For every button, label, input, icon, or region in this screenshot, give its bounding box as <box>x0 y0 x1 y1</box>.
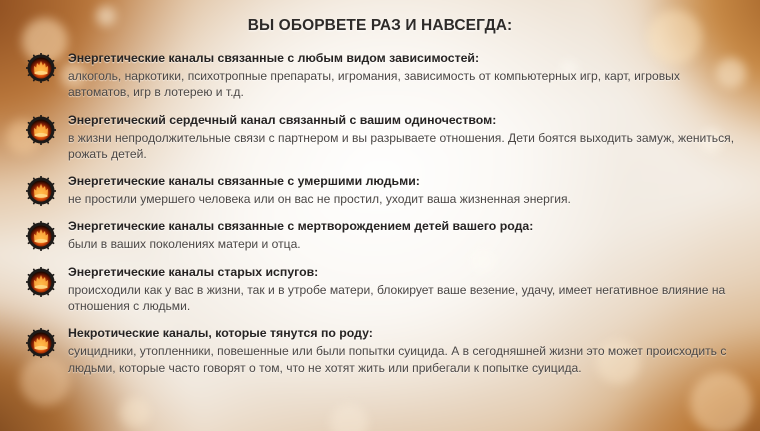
icon-cell <box>26 325 66 358</box>
list-item-heading: Энергетические каналы связанные с умерши… <box>68 173 744 190</box>
text-cell: Энергетические каналы связанные с любым … <box>66 50 744 101</box>
list-item: Энергетические каналы связанные с мертво… <box>26 218 744 252</box>
text-cell: Энергетический сердечный канал связанный… <box>66 112 744 163</box>
list-item: Энергетические каналы связанные с любым … <box>26 50 744 101</box>
list-item-heading: Энергетические каналы старых испугов: <box>68 264 744 281</box>
fire-emblem-icon <box>26 176 56 206</box>
list-item-heading: Энергетические каналы связанные с мертво… <box>68 218 744 235</box>
promo-page: ВЫ ОБОРВЕТЕ РАЗ И НАВСЕГДА: <box>0 0 760 431</box>
list-item: Некротические каналы, которые тянутся по… <box>26 325 744 376</box>
text-cell: Энергетические каналы связанные с мертво… <box>66 218 744 252</box>
fire-emblem-icon <box>26 115 56 145</box>
list-item-body: были в ваших поколениях матери и отца. <box>68 236 744 252</box>
page-title: ВЫ ОБОРВЕТЕ РАЗ И НАВСЕГДА: <box>0 0 760 35</box>
benefit-list: Энергетические каналы связанные с любым … <box>0 50 760 376</box>
fire-emblem-icon <box>26 221 56 251</box>
list-item-heading: Энергетические каналы связанные с любым … <box>68 50 744 67</box>
fire-emblem-icon <box>26 53 56 83</box>
list-item: Энергетический сердечный канал связанный… <box>26 112 744 163</box>
list-item-heading: Энергетический сердечный канал связанный… <box>68 112 744 129</box>
fire-emblem-icon <box>26 328 56 358</box>
text-cell: Энергетические каналы связанные с умерши… <box>66 173 744 207</box>
list-item-body: происходили как у вас в жизни, так и в у… <box>68 282 744 315</box>
list-item-body: в жизни непродолжительные связи с партне… <box>68 130 744 163</box>
icon-cell <box>26 218 66 251</box>
list-item: Энергетические каналы старых испугов: пр… <box>26 264 744 315</box>
icon-cell <box>26 112 66 145</box>
list-item: Энергетические каналы связанные с умерши… <box>26 173 744 207</box>
text-cell: Энергетические каналы старых испугов: пр… <box>66 264 744 315</box>
icon-cell <box>26 173 66 206</box>
icon-cell <box>26 50 66 83</box>
fire-emblem-icon <box>26 267 56 297</box>
list-item-body: не простили умершего человека или он вас… <box>68 191 744 207</box>
icon-cell <box>26 264 66 297</box>
list-item-body: алкоголь, наркотики, психотропные препар… <box>68 68 744 101</box>
list-item-body: суицидники, утопленники, повешенные или … <box>68 343 744 376</box>
text-cell: Некротические каналы, которые тянутся по… <box>66 325 744 376</box>
list-item-heading: Некротические каналы, которые тянутся по… <box>68 325 744 342</box>
